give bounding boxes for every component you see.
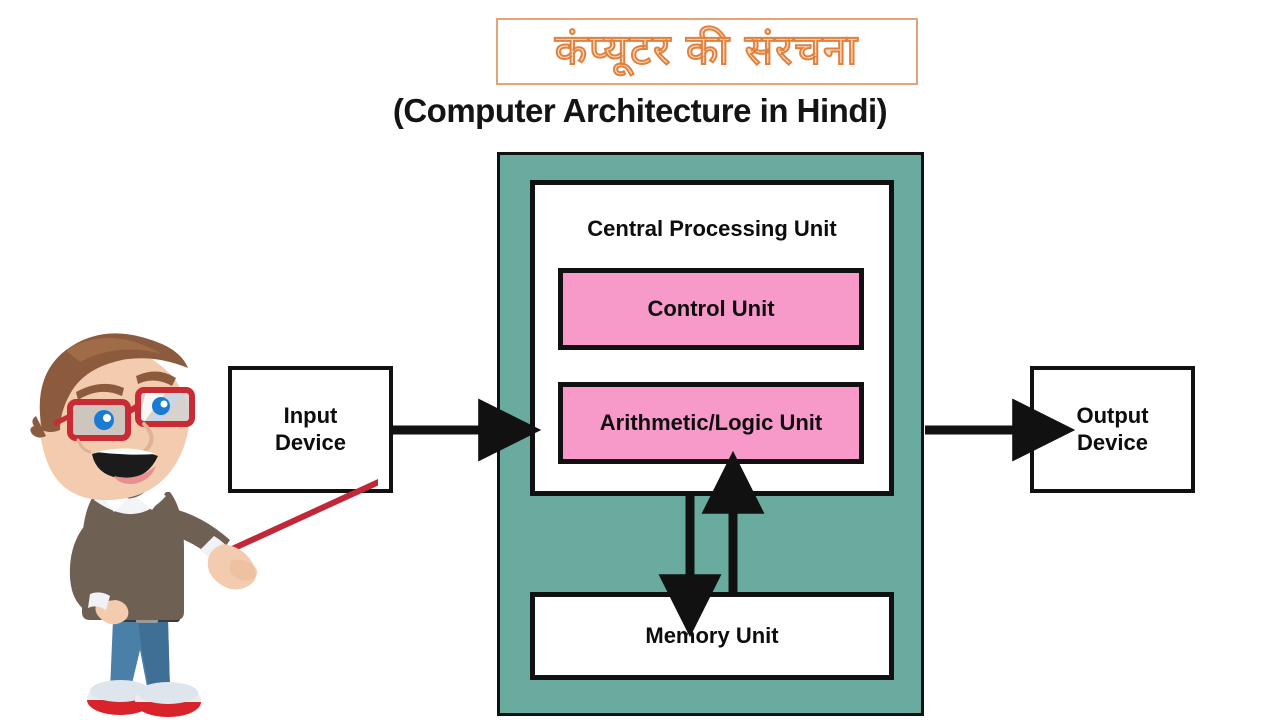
pointer-stick-icon	[230, 480, 378, 550]
control-unit-box: Control Unit	[558, 268, 864, 350]
slide-canvas: कंप्यूटर की संरचना (Computer Architectur…	[0, 0, 1280, 720]
output-device-box: Output Device	[1030, 366, 1195, 493]
shoe-right	[135, 682, 201, 717]
teacher-illustration	[18, 320, 378, 720]
arithmetic-logic-unit-label: Arithmetic/Logic Unit	[600, 410, 822, 436]
output-device-label-line1: Output	[1076, 403, 1148, 430]
arithmetic-logic-unit-box: Arithmetic/Logic Unit	[558, 382, 864, 464]
output-device-label-line2: Device	[1077, 430, 1148, 457]
teacher-head	[30, 333, 192, 500]
teacher-body	[70, 484, 258, 717]
cpu-label: Central Processing Unit	[535, 216, 889, 242]
title-box: कंप्यूटर की संरचना	[496, 18, 918, 85]
page-title-hindi: कंप्यूटर की संरचना	[555, 29, 860, 75]
memory-unit-label: Memory Unit	[645, 623, 778, 649]
hand-holding-pointer	[208, 544, 258, 590]
page-subtitle: (Computer Architecture in Hindi)	[0, 92, 1280, 130]
memory-unit-box: Memory Unit	[530, 592, 894, 680]
control-unit-label: Control Unit	[647, 296, 774, 322]
